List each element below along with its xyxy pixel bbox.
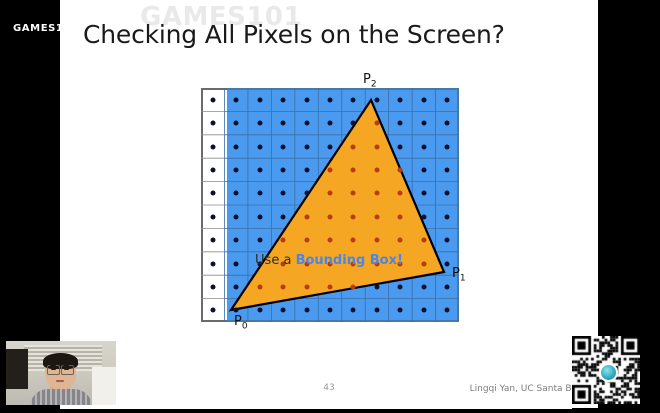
presenter-webcam-feed[interactable]: [6, 341, 116, 405]
webcam-eyebrow-left: [50, 365, 56, 367]
rasterization-diagram: P0 P1 P2: [201, 88, 459, 322]
presentation-slide: GAMES101 Checking All Pixels on the Scre…: [60, 0, 598, 409]
webcam-eye-right: [64, 368, 69, 370]
webcam-dark-panel: [6, 349, 28, 389]
qr-code-overlay[interactable]: [572, 336, 652, 404]
slide-caption: Use a Bounding Box!: [60, 253, 598, 268]
qr-center-logo-icon: [599, 363, 618, 382]
page-title: Checking All Pixels on the Screen?: [83, 20, 505, 49]
video-player-frame: GAMES101 GAMES101 Checking All Pixels on…: [0, 0, 660, 409]
webcam-eyebrow-right: [63, 365, 69, 367]
caption-prefix: Use a: [255, 253, 296, 268]
webcam-white-object: [92, 367, 116, 405]
webcam-mouth: [56, 380, 64, 382]
vertex-label-p1: P1: [452, 266, 466, 284]
webcam-glasses-right: [61, 365, 74, 375]
triangle-shape: [201, 88, 459, 322]
webcam-eye-left: [51, 368, 56, 370]
webcam-glasses-left: [47, 365, 60, 375]
webcam-shirt-pattern: [30, 389, 92, 405]
vertex-label-p0: P0: [234, 314, 248, 332]
vertex-label-p2: P2: [363, 72, 377, 90]
caption-highlight: Bounding Box!: [296, 253, 403, 268]
